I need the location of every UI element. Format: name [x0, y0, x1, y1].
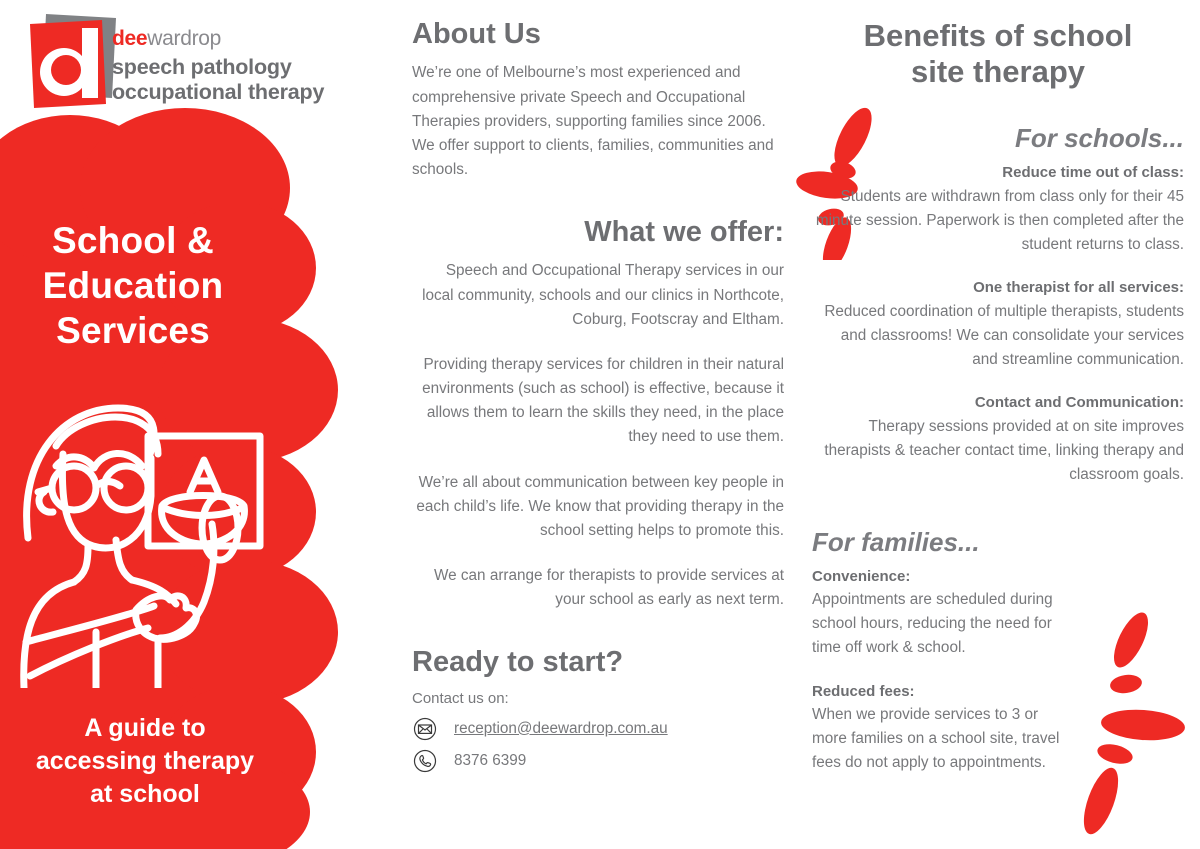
logo-name: deewardrop [112, 28, 324, 49]
logo-tagline-1: speech pathology [112, 55, 324, 80]
schools-item-1-label: Reduce time out of class: [812, 162, 1184, 185]
middle-column: About Us We’re one of Melbourne’s most e… [412, 18, 784, 780]
benefits-heading: Benefits of school site therapy [812, 18, 1184, 89]
brochure-page: School & Education Services [0, 0, 1200, 849]
about-us-heading: About Us [412, 18, 784, 51]
contact-row-email[interactable]: reception@deewardrop.com.au [412, 716, 784, 742]
logo-name-light: wardrop [147, 27, 221, 50]
benefits-heading-line-1: Benefits of school [864, 18, 1133, 53]
what-we-offer-heading: What we offer: [412, 216, 784, 249]
left-red-panel [0, 0, 345, 849]
company-logo: deewardrop speech pathology occupational… [20, 6, 400, 114]
logo-name-bold: dee [112, 27, 147, 50]
contact-row-phone[interactable]: 8376 6399 [412, 748, 784, 774]
for-families-heading: For families... [812, 527, 1184, 558]
for-schools-heading: For schools... [812, 123, 1184, 154]
logo-wordmark: deewardrop speech pathology occupational… [112, 28, 324, 105]
logo-tagline-2: occupational therapy [112, 80, 324, 105]
phone-number[interactable]: 8376 6399 [454, 752, 526, 770]
what-we-offer-paragraph-4: We can arrange for therapists to provide… [412, 564, 784, 612]
families-item-2-label: Reduced fees: [812, 681, 1070, 704]
phone-icon [412, 748, 438, 774]
what-we-offer-paragraph-2: Providing therapy services for children … [412, 353, 784, 450]
schools-item-1-body: Students are withdrawn from class only f… [812, 185, 1184, 257]
families-item-2-body: When we provide services to 3 or more fa… [812, 703, 1070, 775]
what-we-offer-paragraph-3: We’re all about communication between ke… [412, 471, 784, 543]
families-item-1-body: Appointments are scheduled during school… [812, 588, 1070, 660]
envelope-icon [412, 716, 438, 742]
what-we-offer-paragraph-1: Speech and Occupational Therapy services… [412, 259, 784, 331]
families-item-1-label: Convenience: [812, 566, 1070, 589]
schools-item-2-label: One therapist for all services: [812, 277, 1184, 300]
benefits-heading-line-2: site therapy [911, 54, 1085, 89]
schools-item-3-label: Contact and Communication: [812, 392, 1184, 415]
about-us-body: We’re one of Melbourne’s most experience… [412, 61, 784, 182]
email-address[interactable]: reception@deewardrop.com.au [454, 720, 668, 738]
right-column: Benefits of school site therapy For scho… [812, 18, 1184, 775]
schools-item-2-body: Reduced coordination of multiple therapi… [812, 300, 1184, 372]
contact-label: Contact us on: [412, 690, 784, 707]
ready-to-start-heading: Ready to start? [412, 646, 784, 679]
schools-item-3-body: Therapy sessions provided at on site imp… [812, 415, 1184, 487]
